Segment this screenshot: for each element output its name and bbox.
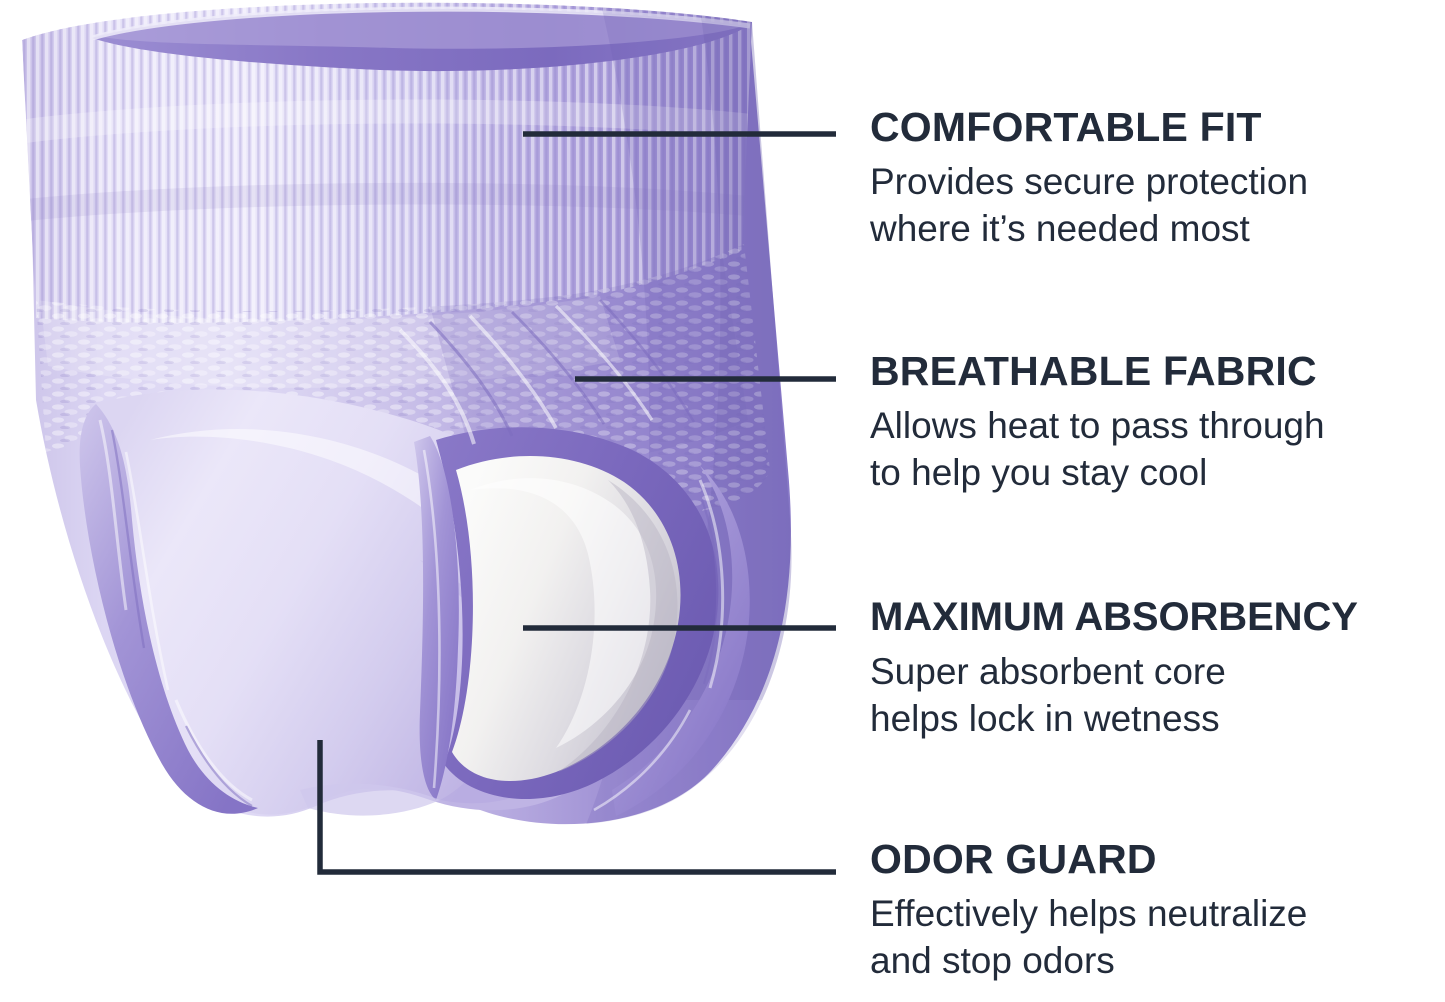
product-image	[0, 0, 900, 880]
callout-breathable-fabric: BREATHABLE FABRIC Allows heat to pass th…	[870, 350, 1445, 496]
garment-body	[0, 0, 900, 880]
callout-body-line: Allows heat to pass through	[870, 402, 1445, 449]
callout-body-line: Effectively helps neutralize	[870, 890, 1445, 937]
callout-body-line: Provides secure protection	[870, 158, 1445, 205]
callout-body: Super absorbent core helps lock in wetne…	[870, 648, 1445, 743]
callout-heading: ODOR GUARD	[870, 838, 1445, 881]
callout-body-line: and stop odors	[870, 937, 1445, 984]
callout-maximum-absorbency: MAXIMUM ABSORBENCY Super absorbent core …	[870, 597, 1445, 742]
callout-body-line: helps lock in wetness	[870, 695, 1445, 742]
callout-body: Allows heat to pass through to help you …	[870, 402, 1445, 497]
callout-body-line: to help you stay cool	[870, 449, 1445, 496]
callout-comfortable-fit: COMFORTABLE FIT Provides secure protecti…	[870, 106, 1445, 252]
callout-body: Provides secure protection where it’s ne…	[870, 158, 1445, 253]
callout-odor-guard: ODOR GUARD Effectively helps neutralize …	[870, 838, 1445, 984]
callout-body: Effectively helps neutralize and stop od…	[870, 890, 1445, 985]
callout-heading: BREATHABLE FABRIC	[870, 350, 1445, 393]
callout-heading: COMFORTABLE FIT	[870, 106, 1445, 149]
callout-body-line: Super absorbent core	[870, 648, 1445, 695]
callout-heading: MAXIMUM ABSORBENCY	[870, 597, 1445, 639]
infographic-canvas: COMFORTABLE FIT Provides secure protecti…	[0, 0, 1445, 1002]
callout-body-line: where it’s needed most	[870, 205, 1445, 252]
